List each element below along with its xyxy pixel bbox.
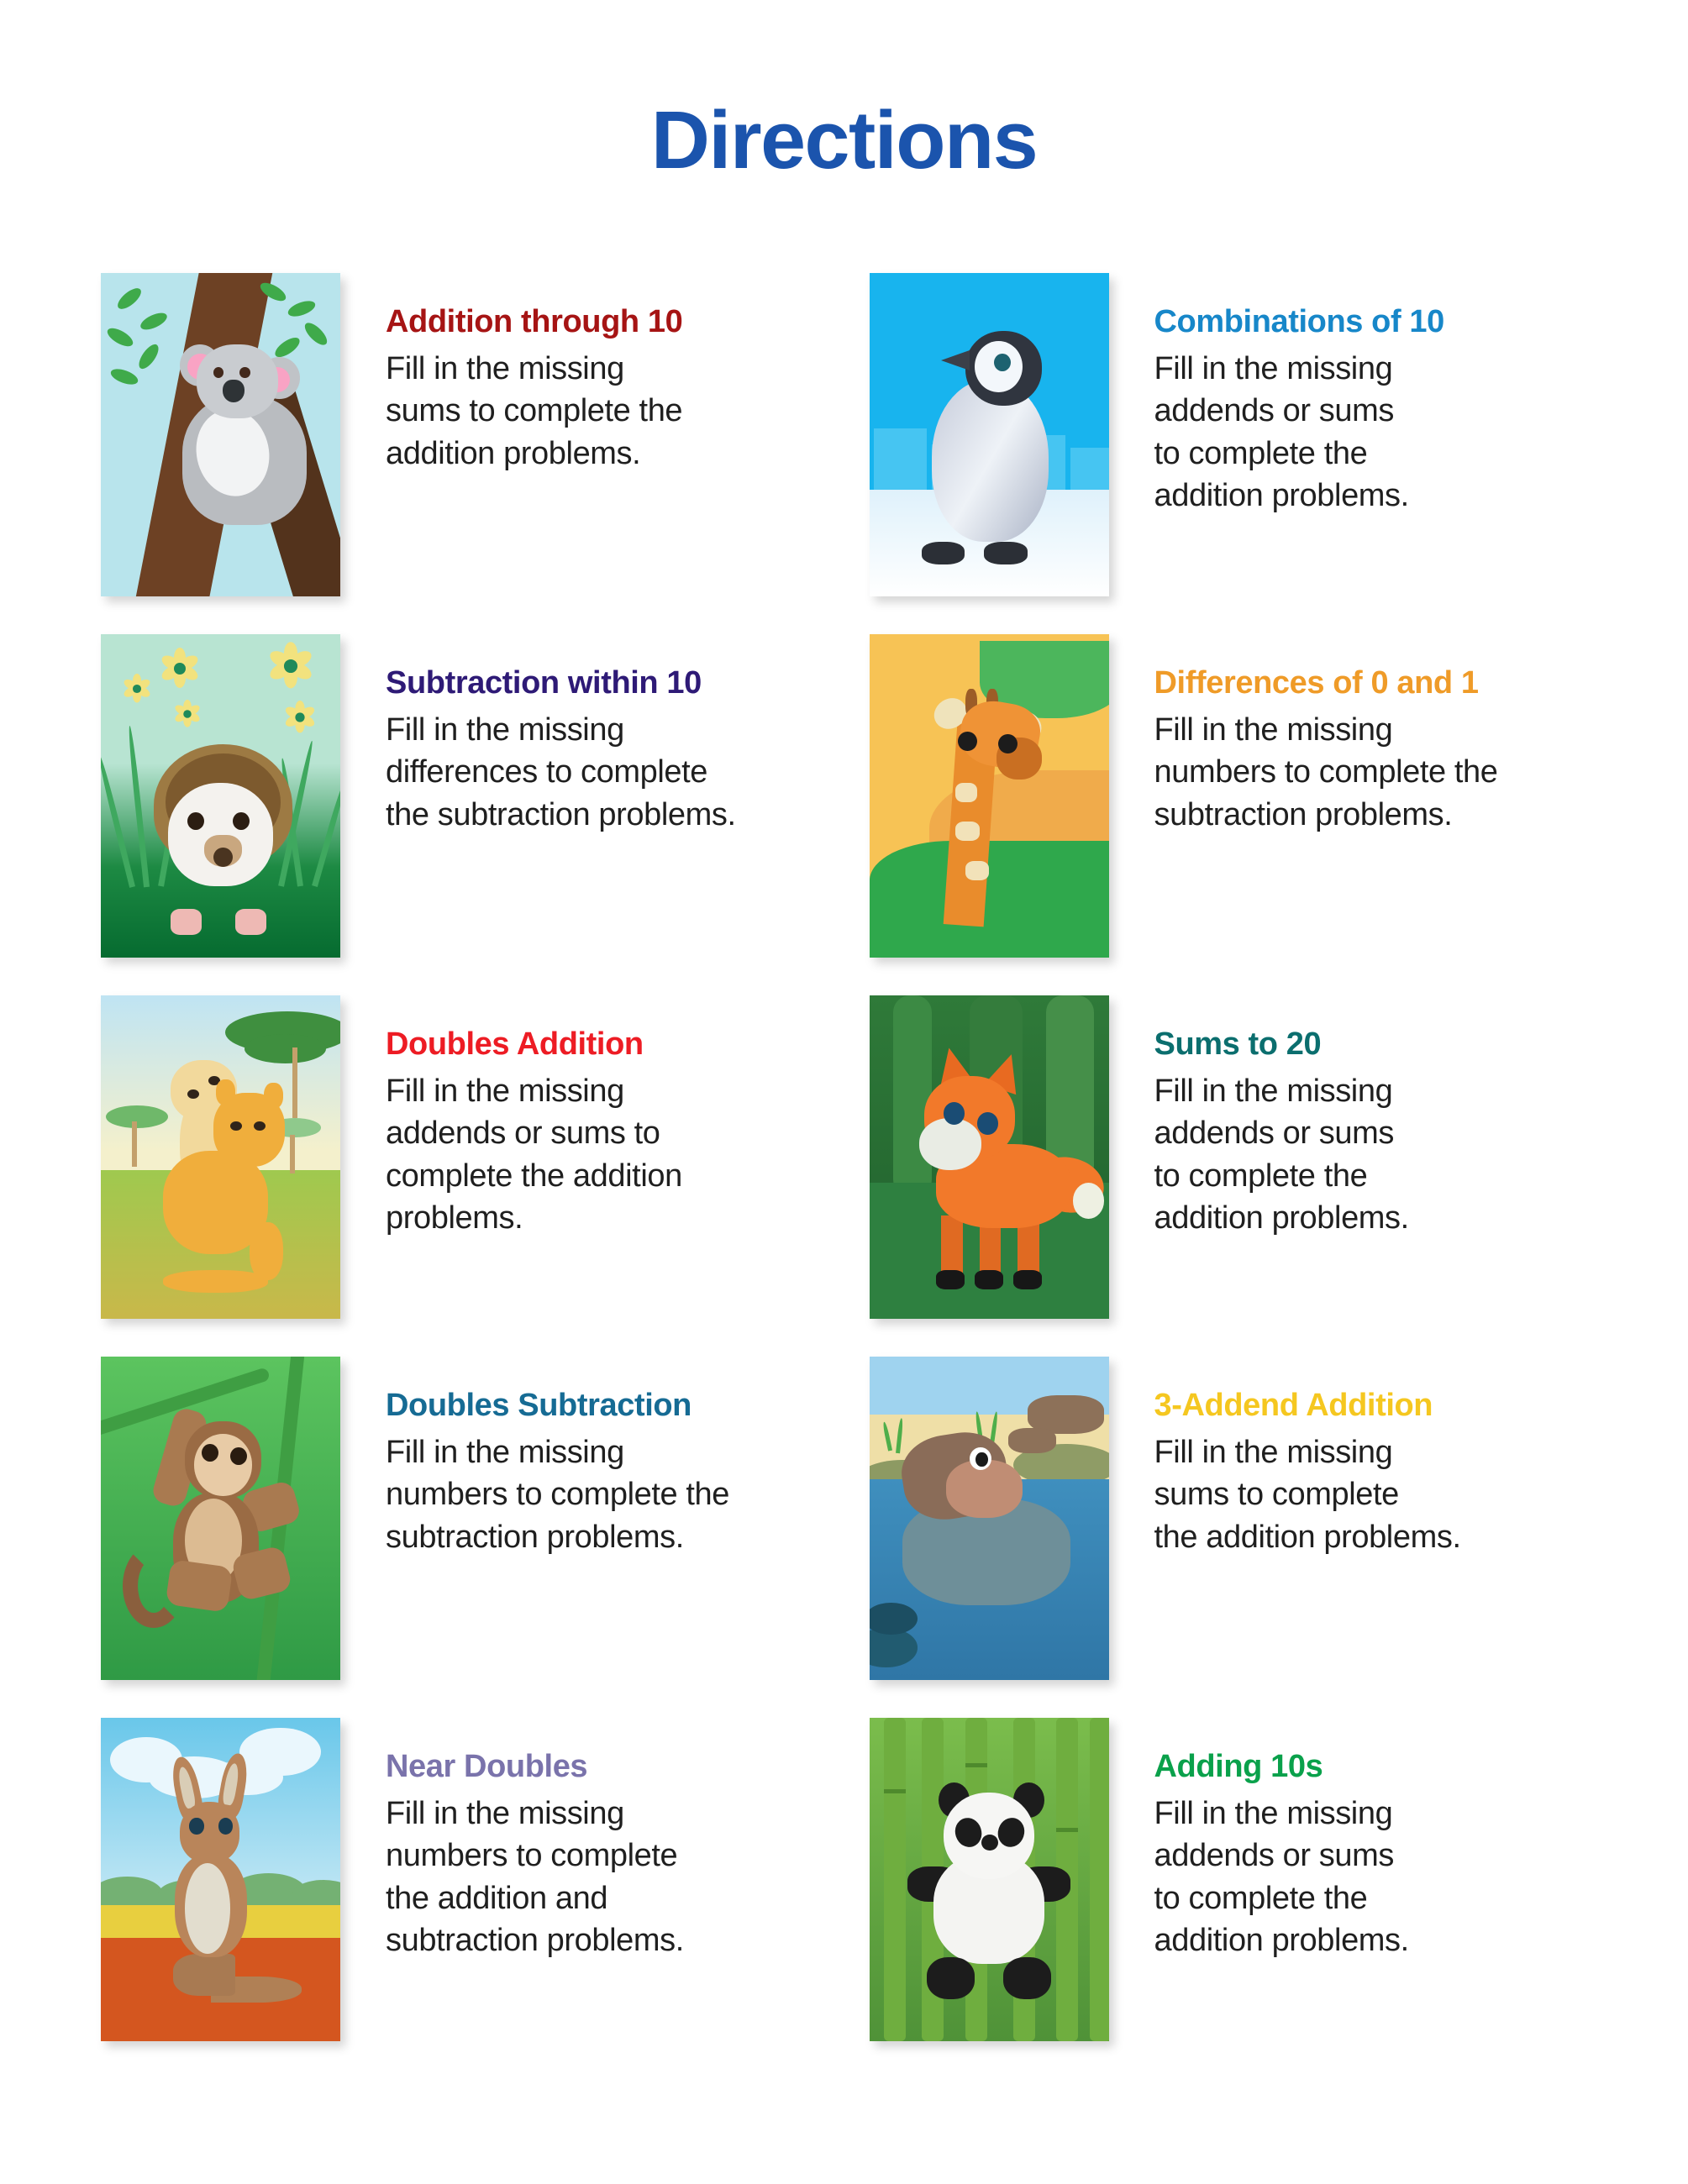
card-text: Differences of 0 and 1 Fill in the missi… [1109, 627, 1608, 836]
card-title: Combinations of 10 [1154, 305, 1608, 340]
card-title: 3-Addend Addition [1154, 1389, 1608, 1424]
card-title: Near Doubles [386, 1750, 844, 1785]
card-description: Fill in the missing numbers to complete … [386, 1431, 839, 1559]
card-description: Fill in the missing sums to complete the… [1154, 1431, 1591, 1559]
card-text: Combinations of 10 Fill in the missing a… [1109, 266, 1608, 517]
card-text: Subtraction within 10 Fill in the missin… [340, 627, 844, 836]
card-title: Subtraction within 10 [386, 666, 844, 701]
card-title: Sums to 20 [1154, 1027, 1608, 1063]
thumbnail-monkey-on-vine [101, 1357, 340, 1680]
card-description: Fill in the missing addends or sums to c… [1154, 348, 1591, 517]
direction-card: Combinations of 10 Fill in the missing a… [844, 266, 1608, 627]
card-text: Doubles Addition Fill in the missing add… [340, 989, 844, 1240]
card-description: Fill in the missing addends or sums to c… [1154, 1070, 1591, 1240]
card-description: Fill in the missing addends or sums to c… [1154, 1793, 1591, 1962]
card-title: Doubles Subtraction [386, 1389, 844, 1424]
direction-card: Differences of 0 and 1 Fill in the missi… [844, 627, 1608, 989]
card-description: Fill in the missing numbers to complete … [386, 1793, 839, 1962]
direction-card: Sums to 20 Fill in the missing addends o… [844, 989, 1608, 1350]
direction-card: Near Doubles Fill in the missing numbers… [81, 1711, 844, 2072]
directions-grid: Addition through 10 Fill in the missing … [0, 266, 1688, 2072]
grid-column-left: Addition through 10 Fill in the missing … [81, 266, 844, 2072]
card-title: Adding 10s [1154, 1750, 1608, 1785]
thumbnail-giraffe-on-savanna [870, 634, 1109, 958]
thumbnail-lion-cubs-on-savanna [101, 995, 340, 1319]
direction-card: Adding 10s Fill in the missing addends o… [844, 1711, 1608, 2072]
card-text: 3-Addend Addition Fill in the missing su… [1109, 1350, 1608, 1558]
card-description: Fill in the missing numbers to complete … [1154, 709, 1591, 837]
card-title: Differences of 0 and 1 [1154, 666, 1608, 701]
direction-card: Doubles Subtraction Fill in the missing … [81, 1350, 844, 1711]
direction-card: Subtraction within 10 Fill in the missin… [81, 627, 844, 989]
direction-card: Addition through 10 Fill in the missing … [81, 266, 844, 627]
direction-card: Doubles Addition Fill in the missing add… [81, 989, 844, 1350]
directions-page: Directions [0, 0, 1688, 2184]
thumbnail-penguin-chick-on-ice [870, 273, 1109, 596]
grid-column-right: Combinations of 10 Fill in the missing a… [844, 266, 1608, 2072]
thumbnail-koala-in-tree [101, 273, 340, 596]
thumbnail-hedgehog-in-flowers [101, 634, 340, 958]
thumbnail-fox-in-forest [870, 995, 1109, 1319]
thumbnail-kangaroo-in-outback [101, 1718, 340, 2041]
card-description: Fill in the missing differences to compl… [386, 709, 839, 837]
card-title: Addition through 10 [386, 305, 844, 340]
card-title: Doubles Addition [386, 1027, 844, 1063]
page-title: Directions [0, 0, 1688, 181]
card-text: Adding 10s Fill in the missing addends o… [1109, 1711, 1608, 1962]
thumbnail-panda-in-bamboo [870, 1718, 1109, 2041]
card-text: Near Doubles Fill in the missing numbers… [340, 1711, 844, 1962]
card-description: Fill in the missing addends or sums to c… [386, 1070, 839, 1240]
card-text: Doubles Subtraction Fill in the missing … [340, 1350, 844, 1558]
thumbnail-hippos-in-river [870, 1357, 1109, 1680]
card-description: Fill in the missing sums to complete the… [386, 348, 839, 475]
card-text: Addition through 10 Fill in the missing … [340, 266, 844, 475]
direction-card: 3-Addend Addition Fill in the missing su… [844, 1350, 1608, 1711]
card-text: Sums to 20 Fill in the missing addends o… [1109, 989, 1608, 1240]
